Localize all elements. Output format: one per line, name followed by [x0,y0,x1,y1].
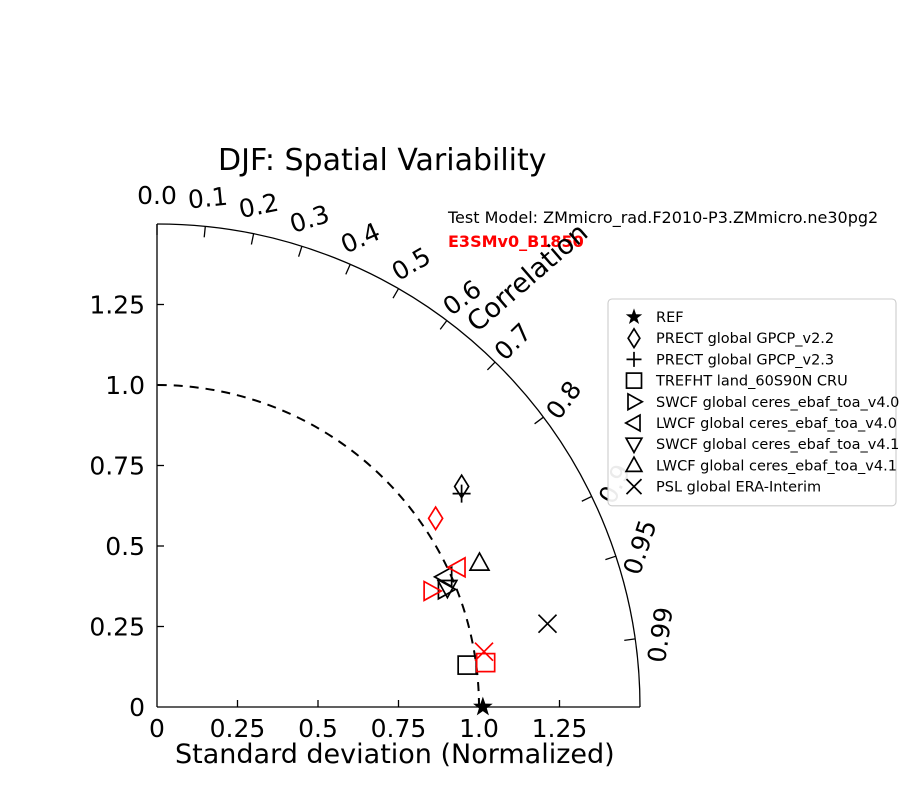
legend-item-label: PRECT global GPCP_v2.3 [656,352,834,368]
legend-item[interactable]: TREFHT land_60S90N CRU [627,373,848,390]
legend-item[interactable]: SWCF global ceres_ebaf_toa_v4.1 [626,437,899,453]
y-tick-label: 0.25 [89,613,145,642]
legend-item-label: LWCF global ceres_ebaf_toa_v4.1 [656,458,897,474]
test-model-annotation: Test Model: ZMmicro_rad.F2010-P3.ZMmicro… [447,208,878,228]
legend-item-label: PSL global ERA-Interim [656,480,821,496]
legend-item-label: TREFHT land_60S90N CRU [655,374,848,390]
correlation-tick-label: 0.0 [137,181,177,210]
legend-item[interactable]: SWCF global ceres_ebaf_toa_v4.0 [628,394,899,411]
legend-item[interactable]: PRECT global GPCP_v2.2 [628,329,834,348]
legend-item-label: SWCF global ceres_ebaf_toa_v4.0 [656,395,899,411]
legend-item-label: LWCF global ceres_ebaf_toa_v4.0 [656,416,897,432]
y-tick-label: 1.25 [89,291,145,320]
x-axis-title: Standard deviation (Normalized) [175,739,615,770]
legend-item-label: PRECT global GPCP_v2.2 [656,331,834,347]
legend-item[interactable]: LWCF global ceres_ebaf_toa_v4.1 [626,457,897,474]
x-tick-label: 0 [149,714,165,743]
legend-item[interactable]: LWCF global ceres_ebaf_toa_v4.0 [626,415,897,432]
y-tick-label: 1.0 [105,371,145,400]
y-tick-label: 0.5 [105,532,145,561]
legend-item[interactable]: PSL global ERA-Interim [627,479,822,496]
page-title: DJF: Spatial Variability [218,143,547,178]
legend-item-label: REF [656,310,684,326]
legend[interactable]: REFPRECT global GPCP_v2.2PRECT global GP… [608,299,899,506]
y-tick-label: 0.75 [89,452,145,481]
y-tick-label: 0 [129,693,145,722]
legend-item[interactable]: PRECT global GPCP_v2.3 [627,352,835,369]
correlation-tick-label: 0.1 [187,182,229,215]
legend-item-label: SWCF global ceres_ebaf_toa_v4.1 [656,437,899,453]
taylor-diagram-figure: DJF: Spatial Variability Test Model: ZMm… [0,0,900,800]
